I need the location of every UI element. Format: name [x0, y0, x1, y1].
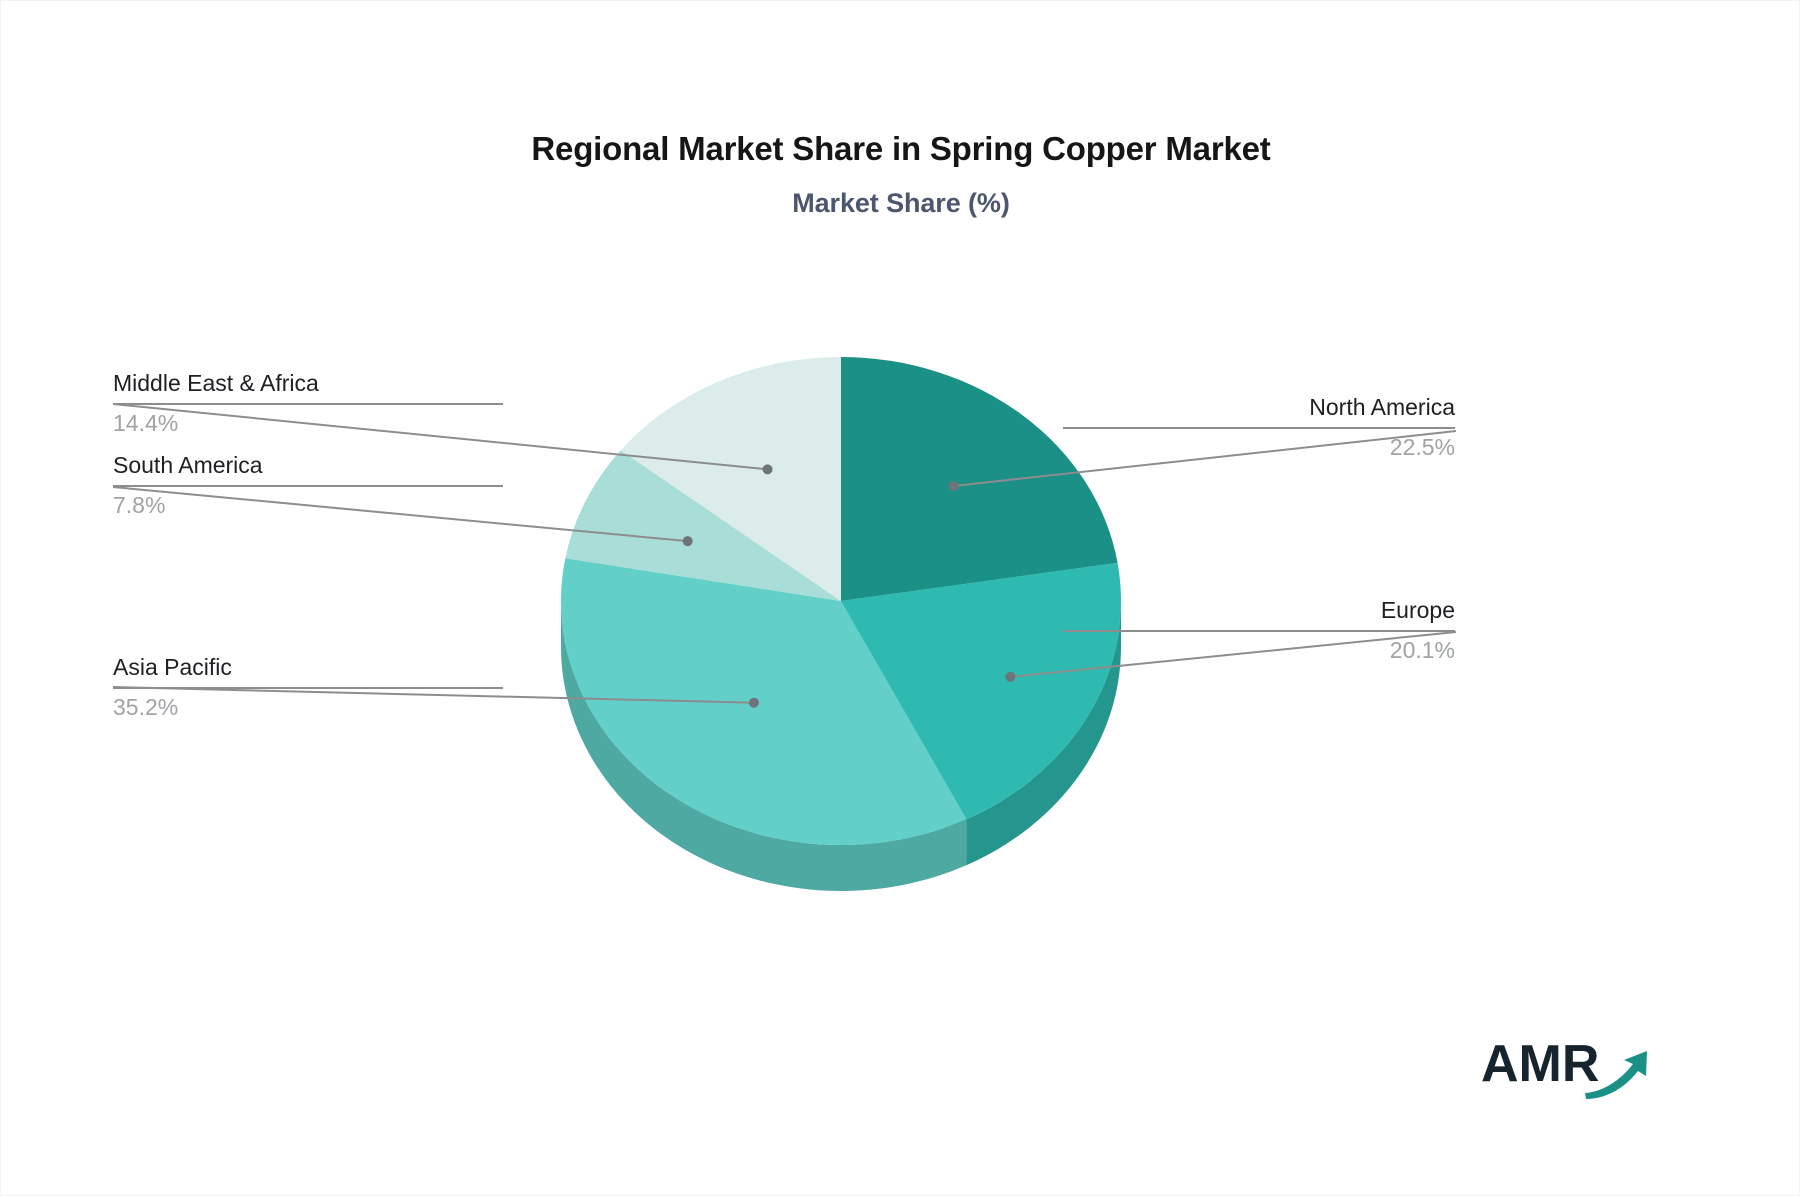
amr-logo: AMR — [1481, 1031, 1661, 1101]
callout-value: 14.4% — [113, 409, 503, 438]
callout-rule — [1063, 427, 1455, 429]
chart-subtitle: Market Share (%) — [1, 187, 1800, 219]
callout-rule — [1063, 630, 1455, 632]
callout-rule — [113, 485, 503, 487]
callout-rule — [113, 687, 503, 689]
callout-north-america[interactable]: North America 22.5% — [1063, 393, 1455, 462]
callout-middle-east-africa[interactable]: Middle East & Africa 14.4% — [113, 369, 503, 438]
callout-label: Europe — [1063, 596, 1455, 625]
amr-logo-text: AMR — [1481, 1035, 1599, 1093]
amr-logo-svg: AMR — [1481, 1031, 1661, 1101]
callout-europe[interactable]: Europe 20.1% — [1063, 596, 1455, 665]
callout-rule — [113, 403, 503, 405]
callout-label: Asia Pacific — [113, 653, 503, 682]
callout-value: 35.2% — [113, 693, 503, 722]
page-title: Regional Market Share in Spring Copper M… — [1, 129, 1800, 169]
callout-value: 7.8% — [113, 491, 503, 520]
callout-value: 20.1% — [1063, 636, 1455, 665]
title-block: Regional Market Share in Spring Copper M… — [1, 129, 1800, 219]
callout-label: North America — [1063, 393, 1455, 422]
callout-value: 22.5% — [1063, 433, 1455, 462]
callout-asia-pacific[interactable]: Asia Pacific 35.2% — [113, 653, 503, 722]
chart-canvas: Regional Market Share in Spring Copper M… — [0, 0, 1800, 1196]
pie-top-faces — [561, 357, 1121, 845]
callout-label: Middle East & Africa — [113, 369, 503, 398]
callout-label: South America — [113, 451, 503, 480]
callout-south-america[interactable]: South America 7.8% — [113, 451, 503, 520]
